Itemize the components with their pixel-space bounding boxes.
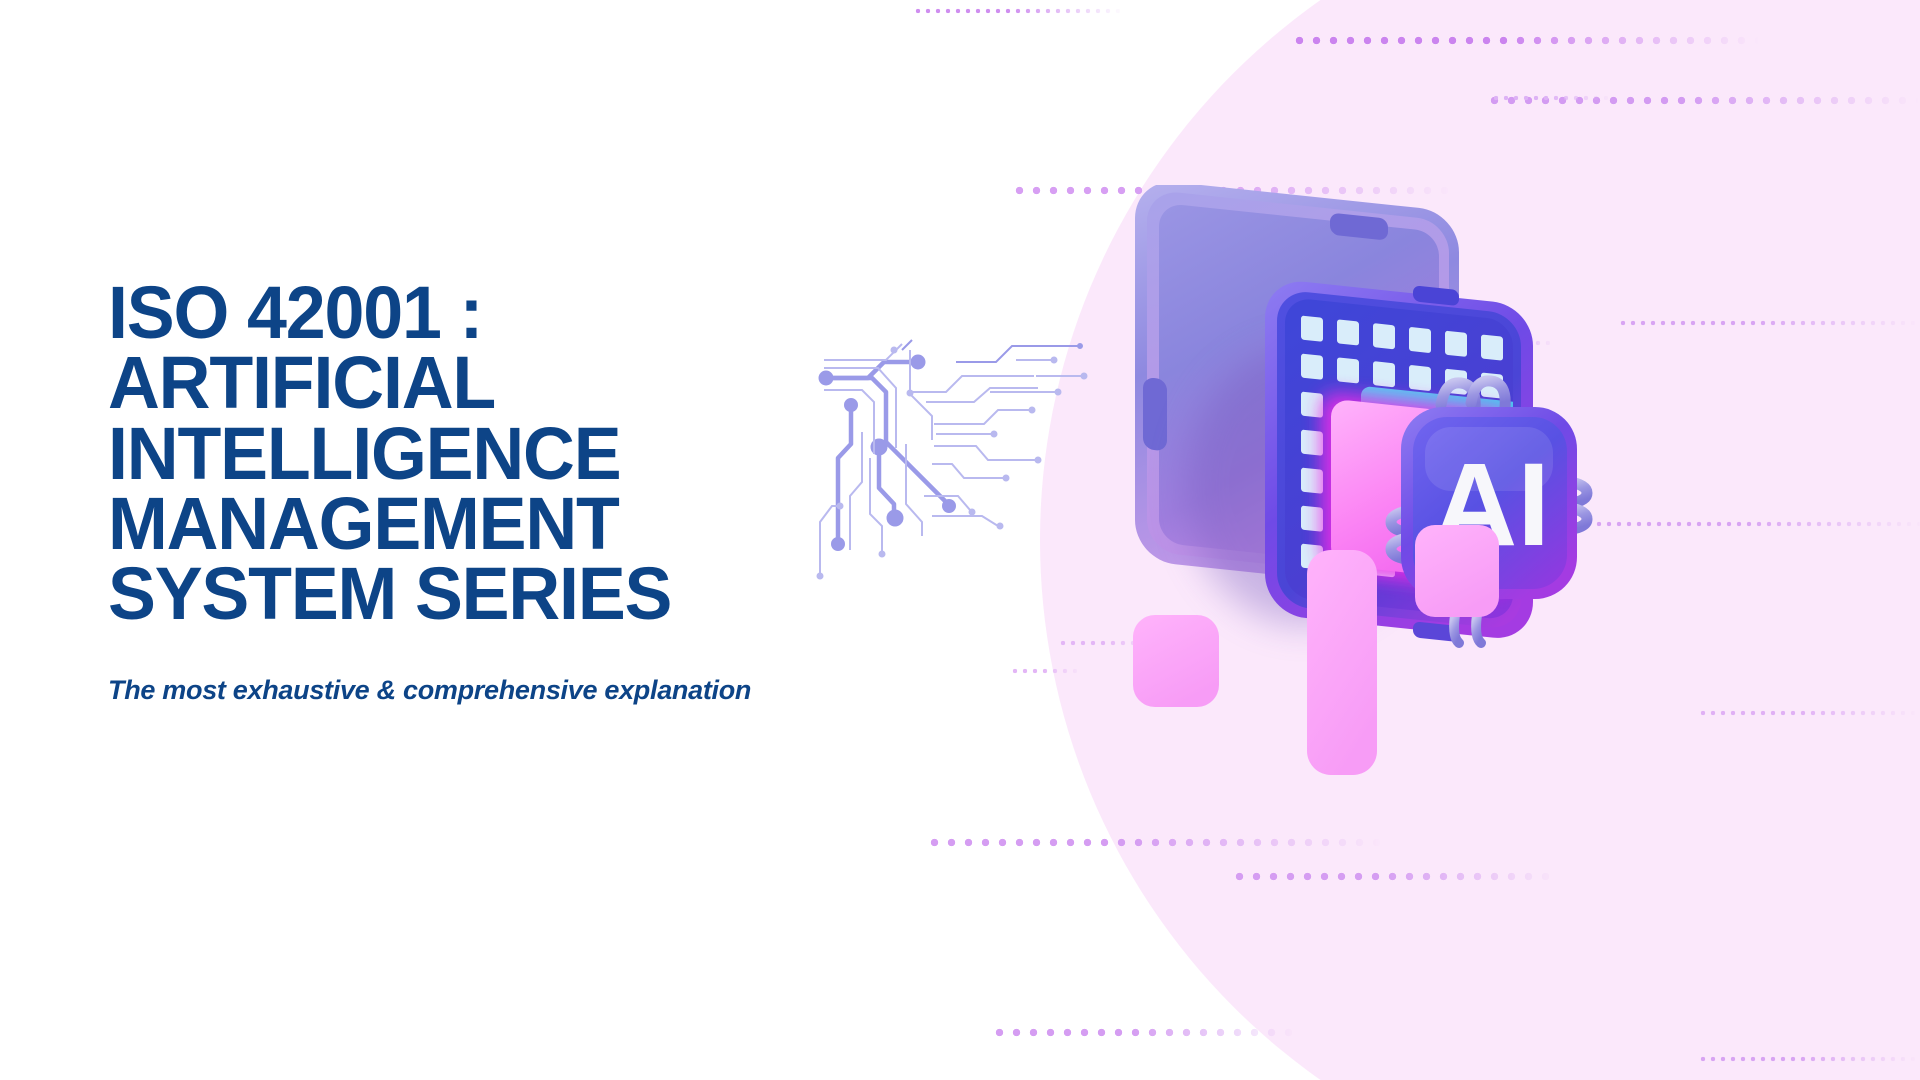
page-subtitle: The most exhaustive & comprehensive expl…	[108, 675, 888, 706]
dot-line-8	[1012, 668, 1082, 674]
title-line-4: MANAGEMENT	[108, 489, 865, 559]
dot-line-5	[1493, 95, 1613, 101]
text-block: ISO 42001 : ARTIFICIAL INTELLIGENCE MANA…	[108, 278, 888, 706]
page-title: ISO 42001 : ARTIFICIAL INTELLIGENCE MANA…	[108, 278, 865, 629]
dot-line-6	[1620, 320, 1920, 326]
ai-chip-illustration: AI	[1125, 185, 1645, 845]
title-line-2: ARTIFICIAL	[108, 348, 865, 418]
title-line-5: SYSTEM SERIES	[108, 559, 865, 629]
dot-line-10	[1700, 710, 1920, 716]
float-square-tall	[1307, 550, 1377, 775]
title-line-3: INTELLIGENCE	[108, 419, 865, 489]
title-line-1: ISO 42001 :	[108, 278, 865, 348]
float-square-right	[1415, 525, 1499, 617]
dot-line-12	[1235, 872, 1560, 881]
dot-line-13	[995, 1028, 1300, 1037]
dot-line-1	[915, 8, 1125, 14]
float-square-bottom-left	[1133, 615, 1219, 707]
slide-canvas: AI ISO 42001 : ARTIFICIAL INTELLIGENCE M…	[0, 0, 1920, 1080]
dot-line-14	[1700, 1056, 1920, 1062]
dot-line-2	[1295, 36, 1760, 45]
